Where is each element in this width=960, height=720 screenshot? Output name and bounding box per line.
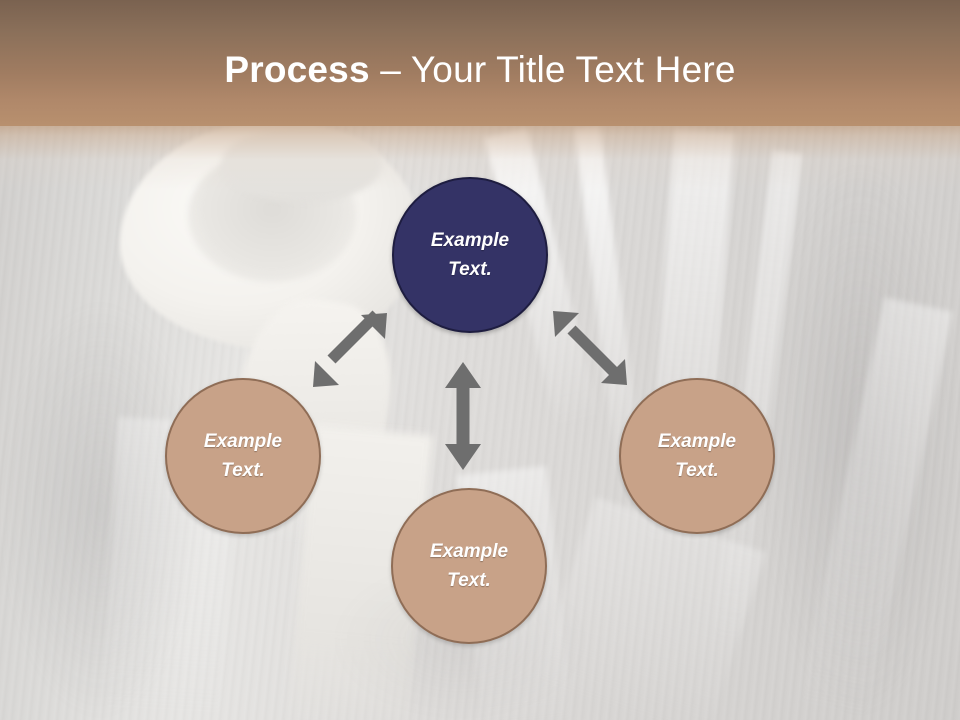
process-node-bottom-line1: Example (430, 537, 508, 566)
connector-top-to-left-arrow (300, 300, 400, 400)
process-node-right[interactable]: Example Text. (619, 378, 775, 534)
page-title-dash: – (370, 49, 411, 90)
process-node-left[interactable]: Example Text. (165, 378, 321, 534)
connector-top-to-right-arrow (540, 298, 640, 398)
connector-top-to-bottom-arrow (438, 360, 488, 472)
process-node-top-line1: Example (431, 226, 509, 255)
process-node-right-line1: Example (658, 427, 736, 456)
process-node-bottom-line2: Text. (447, 566, 491, 595)
process-node-top-line2: Text. (448, 255, 492, 284)
process-node-left-line1: Example (204, 427, 282, 456)
page-title-strong: Process (224, 49, 369, 90)
process-node-bottom[interactable]: Example Text. (391, 488, 547, 644)
process-node-left-line2: Text. (221, 456, 265, 485)
page-title-rest: Your Title Text Here (411, 49, 736, 90)
process-node-right-line2: Text. (675, 456, 719, 485)
process-node-top[interactable]: Example Text. (392, 177, 548, 333)
page-title: Process – Your Title Text Here (0, 46, 960, 94)
slide-canvas: Process – Your Title Text Here Example T… (0, 0, 960, 720)
